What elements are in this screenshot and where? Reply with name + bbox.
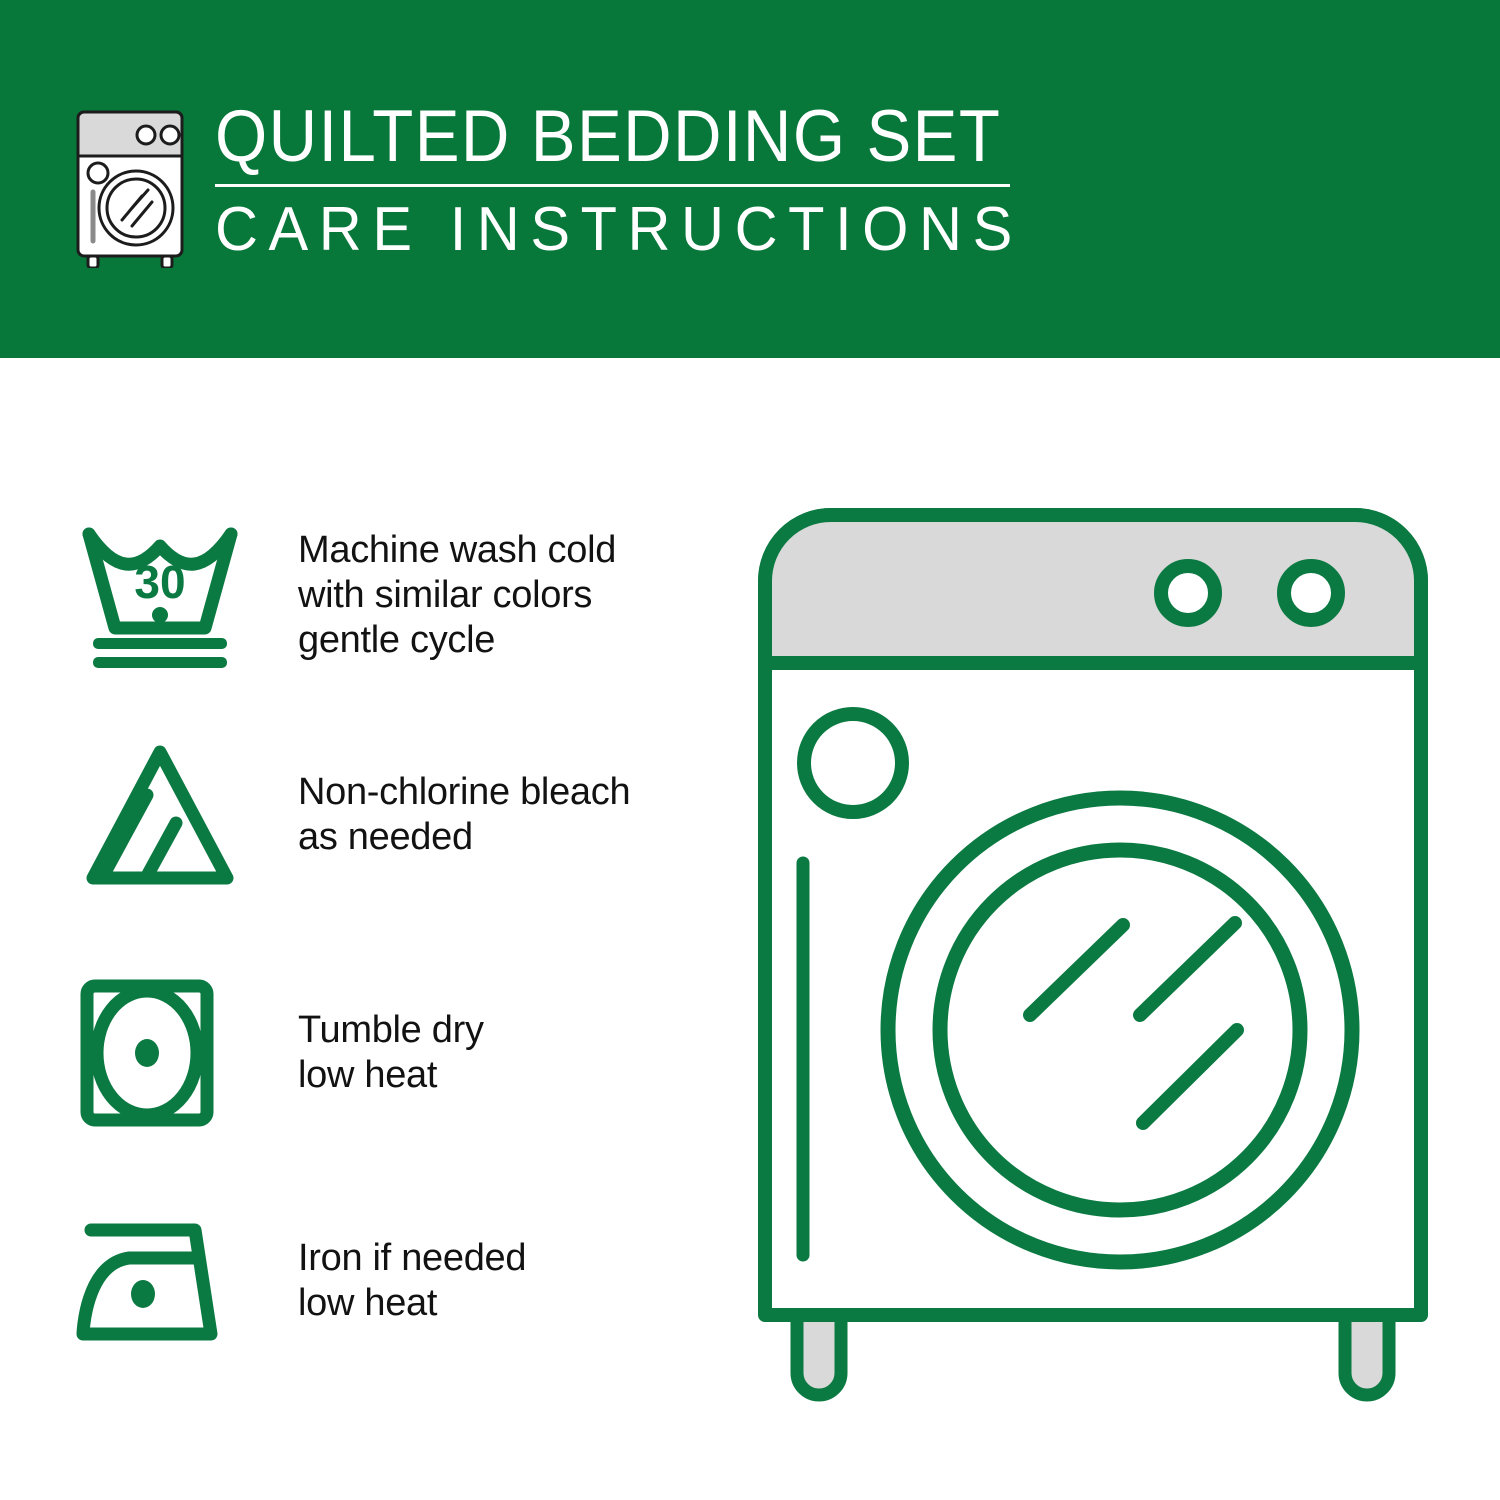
page-title: QUILTED BEDDING SET [215,96,960,178]
list-item-text: Machine wash cold with similar colors ge… [298,528,616,663]
care-line: low heat [298,1281,526,1326]
list-item-text: Iron if needed low heat [298,1236,526,1326]
list-item: Tumble dry low heat [75,968,735,1138]
title-divider [215,184,1010,187]
care-line: Iron if needed [298,1236,526,1281]
care-line: as needed [298,815,630,860]
washing-machine-icon [60,108,200,268]
triangle-bleach-icon [75,740,245,890]
door-inner-ring [940,850,1300,1210]
care-line: gentle cycle [298,618,616,663]
wash-tub-30-icon: 30 [75,520,245,670]
list-item-text: Tumble dry low heat [298,1008,484,1098]
list-item: Non-chlorine bleach as needed [75,730,735,900]
care-instructions-page: QUILTED BEDDING SET CARE INSTRUCTIONS 30 [0,0,1500,1500]
list-item: Iron if needed low heat [75,1196,735,1366]
care-line: with similar colors [298,573,616,618]
list-item: 30 Machine wash cold with similar colors… [75,510,735,680]
list-item-text: Non-chlorine bleach as needed [298,770,630,860]
care-line: Non-chlorine bleach [298,770,630,815]
care-line: Tumble dry [298,1008,484,1053]
care-line: low heat [298,1053,484,1098]
wash-temperature-value: 30 [134,556,185,608]
latch-circle [804,714,902,812]
header-banner: QUILTED BEDDING SET CARE INSTRUCTIONS [0,0,1500,358]
header-text-block: QUILTED BEDDING SET CARE INSTRUCTIONS [215,96,1025,266]
care-line: Machine wash cold [298,528,616,573]
iron-low-heat-icon [75,1206,245,1356]
tumble-dry-low-icon [75,978,245,1128]
care-instruction-list: 30 Machine wash cold with similar colors… [0,358,760,1500]
page-subtitle: CARE INSTRUCTIONS [215,194,993,266]
control-knob [1284,566,1338,620]
control-knob [1161,566,1215,620]
front-load-washing-machine-illustration [745,495,1455,1415]
